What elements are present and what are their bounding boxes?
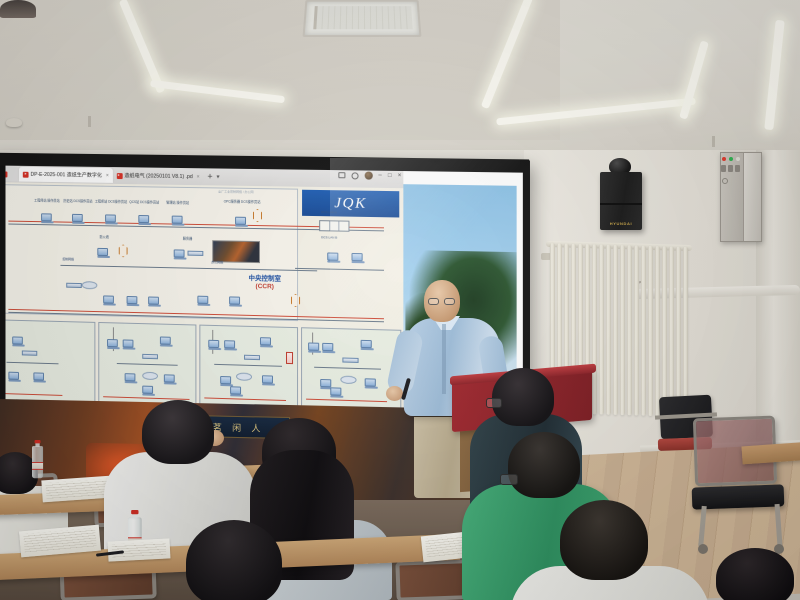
new-tab-button[interactable]: + — [203, 172, 216, 181]
bus-label: 控制网络 — [62, 257, 74, 261]
bottle-cap — [131, 510, 138, 514]
led-strip-light — [764, 20, 784, 130]
air-diffuser-vent — [303, 0, 422, 37]
workstation-node — [174, 249, 185, 257]
screen-bezel-edge — [0, 166, 6, 401]
workstation-node — [230, 386, 241, 394]
maximize-button[interactable]: □ — [388, 173, 392, 179]
server-rack — [319, 220, 349, 232]
audience-head — [560, 500, 648, 580]
workstation-node — [164, 374, 175, 382]
node-label: 管理站 操作员站 — [158, 201, 197, 205]
presenter-hand — [386, 386, 403, 401]
cloud-icon — [82, 281, 98, 289]
network-architecture-diagram[interactable]: JQK 全厂工业控制网络 / 办公网 工程师站 操作员站 历史站 DCS操作员站 — [0, 182, 403, 414]
diagram-top-zone: 工程师站 操作员站 历史站 DCS操作员站 工程师站 DCS操作员站 QCS站 … — [2, 184, 298, 321]
glasses-icon — [500, 474, 518, 485]
workstation-node — [33, 372, 44, 380]
browser-tab[interactable]: 造纸电气 (20250101 V8.1) .pd × — [113, 168, 204, 184]
workstation-node — [127, 296, 138, 304]
workstation-node — [172, 216, 183, 224]
cabinet-room-panel: 污水站楼机柜室 FAR6 — [301, 327, 402, 417]
audience-head — [186, 520, 282, 600]
alarm-module — [286, 352, 293, 364]
hex-marker-icon — [119, 244, 128, 257]
audience-head — [716, 548, 794, 600]
close-icon[interactable]: × — [106, 172, 109, 178]
training-room-photo: HYUNDAI — [0, 0, 800, 600]
cloud-icon — [340, 376, 356, 385]
wall-speaker: HYUNDAI — [600, 172, 642, 230]
workstation-node — [41, 213, 52, 221]
node-label: OPC服务器 DCS操作员站 — [221, 200, 263, 204]
bottle-cap — [35, 440, 41, 443]
workstation-node — [351, 253, 362, 261]
presenter-shirt-placket — [442, 324, 446, 394]
workstation-node — [208, 340, 219, 348]
workstation-node — [229, 296, 240, 304]
workstation-node — [97, 248, 108, 256]
audience-head — [492, 368, 554, 426]
switch-device — [342, 357, 358, 362]
document[interactable] — [108, 538, 171, 561]
node-label: 防火墙 — [90, 236, 119, 240]
restore-icon[interactable] — [338, 172, 345, 178]
workstation-node — [138, 215, 149, 223]
glasses-icon — [486, 398, 502, 408]
workstation-node — [148, 296, 159, 304]
workstation-node — [142, 386, 153, 394]
workstation-node — [235, 217, 246, 225]
audience-head — [508, 432, 580, 498]
tab-title: DP-E-2025-001 造纸生产数字化 — [31, 171, 102, 179]
workstation-node — [107, 339, 118, 347]
workstation-node — [220, 376, 231, 384]
indicator-icon — [722, 178, 728, 184]
bus-label: 办公网络 — [211, 260, 223, 264]
minimize-button[interactable]: – — [378, 173, 381, 179]
glasses-icon — [428, 298, 439, 305]
close-icon[interactable]: × — [197, 174, 200, 180]
workstation-node — [327, 252, 338, 260]
node-label: 服务器 — [168, 237, 207, 241]
workstation-node — [320, 379, 331, 387]
switch-device — [188, 251, 204, 256]
workstation-node — [72, 214, 83, 222]
workstation-node — [123, 339, 134, 347]
workstation-node — [103, 295, 114, 303]
bus-label: DCS LAN A — [321, 210, 337, 214]
cloud-icon — [236, 372, 252, 380]
workstation-node — [224, 340, 235, 348]
switch-device — [244, 355, 260, 360]
workstation-node — [330, 387, 341, 395]
switch-device — [22, 350, 37, 355]
pdf-icon — [117, 173, 123, 179]
workstation-node — [160, 336, 171, 344]
avatar[interactable] — [364, 172, 372, 180]
chevron-down-icon[interactable]: ▾ — [217, 173, 220, 180]
audience-head — [142, 400, 214, 464]
workstation-node — [125, 373, 136, 381]
switch-group[interactable] — [721, 165, 740, 172]
switch-device — [142, 354, 158, 359]
status-led-group — [722, 157, 740, 161]
side-desk — [741, 442, 800, 465]
workstation-node — [105, 214, 116, 222]
led-strip-light — [679, 40, 709, 119]
sprinkler-head — [6, 118, 22, 127]
browser-window[interactable]: DP-E-2025-001 造纸生产数字化 × 造纸电气 (20250101 V… — [0, 166, 403, 414]
workstation-node — [197, 296, 208, 304]
pdf-icon — [23, 171, 29, 177]
tab-title: 造纸电气 (20250101 V8.1) .pd — [124, 172, 192, 180]
gear-icon[interactable] — [351, 172, 358, 179]
workstation-node — [8, 372, 19, 380]
workstation-node — [360, 340, 371, 348]
chair-caster — [698, 544, 708, 554]
ceiling-panel — [0, 0, 560, 140]
jqk-logo-text: JQK — [334, 195, 366, 213]
workstation-node — [261, 375, 272, 383]
workstation-node — [364, 378, 375, 386]
workstation-node — [12, 336, 23, 344]
close-button[interactable]: × — [398, 173, 402, 179]
window-controls[interactable]: – □ × — [338, 171, 401, 180]
switch-device — [66, 283, 82, 288]
workstation-node — [259, 337, 270, 345]
cloud-icon — [142, 372, 158, 380]
presenter — [0, 0, 36, 18]
cabinet-door[interactable] — [743, 153, 761, 241]
hex-marker-icon — [253, 209, 262, 222]
bus-label: DCS LAN B — [321, 235, 337, 239]
glasses-icon — [444, 298, 455, 305]
workstation-node — [308, 342, 319, 350]
speaker-brand-label: HYUNDAI — [600, 221, 642, 226]
sprinkler-head — [712, 136, 715, 147]
presenter-hair — [0, 0, 36, 18]
workstation-node — [322, 343, 333, 351]
hex-marker-icon — [291, 294, 300, 307]
central-control-room-label: 中央控制室 (CCR) — [249, 275, 281, 292]
jqk-logo: JQK — [302, 190, 399, 218]
browser-tab-active[interactable]: DP-E-2025-001 造纸生产数字化 × — [19, 167, 113, 183]
sprinkler-head — [88, 116, 91, 127]
